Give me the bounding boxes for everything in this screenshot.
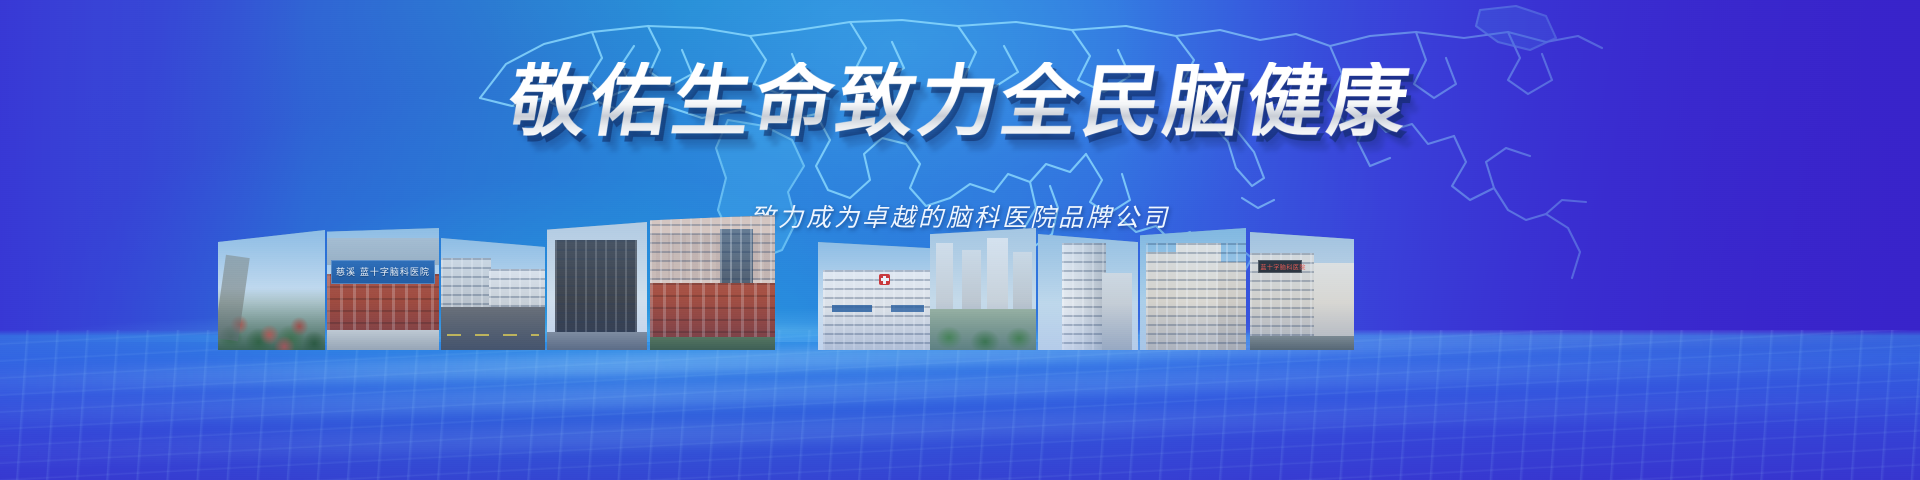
photo-cixi-blue-cross[interactable]: 慈溪 蓝十字脑科医院 — [327, 228, 439, 350]
photo-beige-apartment[interactable] — [1140, 228, 1246, 350]
hero-banner: 敬佑生命致力全民脑健康 致力成为卓越的脑科医院品牌公司 — [0, 0, 1920, 480]
headline-part-2: 致力全民脑健康 — [831, 62, 1418, 144]
photo-led-sign-building[interactable]: 蓝十字脑科医院 — [1250, 232, 1354, 350]
photo-aerial-campus[interactable] — [218, 230, 325, 350]
photo-gallery: 慈溪 蓝十字脑科医院 — [0, 210, 1920, 480]
photo-dark-office-tower[interactable] — [547, 222, 647, 350]
photo-campus-render[interactable] — [930, 228, 1036, 350]
headline-container: 敬佑生命致力全民脑健康 — [0, 62, 1920, 144]
photo-red-brick-complex[interactable] — [650, 215, 775, 350]
photo-street-white-building[interactable] — [441, 238, 545, 350]
photo-white-clinic-cross[interactable] — [818, 242, 936, 350]
photo-modern-tower[interactable] — [1038, 234, 1138, 350]
headline-part-1: 敬佑生命 — [502, 62, 843, 144]
